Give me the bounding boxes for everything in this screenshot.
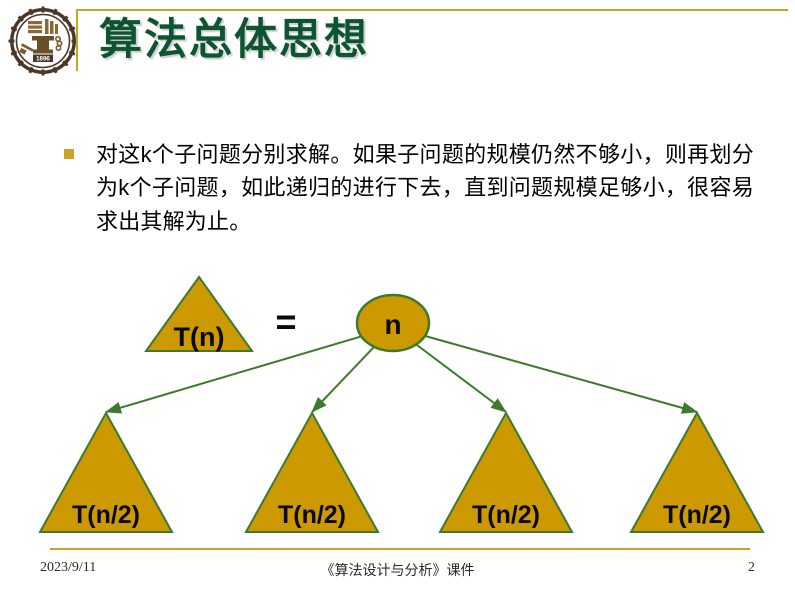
root-triangle: T(n) — [146, 277, 252, 352]
root-node-ellipse: n — [357, 295, 429, 351]
footer: 2023/9/11 《算法设计与分析》课件 2 — [0, 556, 795, 584]
header-vertical-divider — [76, 9, 78, 71]
child-triangle-2: T(n/2) — [246, 413, 378, 532]
child-triangle-3: T(n/2) — [440, 413, 572, 532]
recursion-tree-diagram: T(n) = n T(n/2) T(n/2) T(n/2) — [0, 255, 795, 555]
footer-course-title: 《算法设计与分析》课件 — [0, 560, 795, 580]
page-title: 算法总体思想 — [99, 18, 369, 63]
tree-edge-1 — [106, 327, 393, 412]
bullet-list-item: 对这k个子问题分别求解。如果子问题的规模仍然不够小，则再划分为k个子问题，如此递… — [64, 138, 754, 238]
footer-page-number: 2 — [748, 560, 755, 576]
child-triangle-1-label: T(n/2) — [72, 501, 140, 529]
header-top-divider — [76, 9, 788, 11]
root-node-label: n — [384, 309, 401, 340]
child-triangle-2-label: T(n/2) — [278, 501, 346, 529]
child-triangle-4-label: T(n/2) — [663, 501, 731, 529]
equals-operator: = — [275, 301, 296, 342]
bullet-item-text: 对这k个子问题分别求解。如果子问题的规模仍然不够小，则再划分为k个子问题，如此递… — [96, 138, 754, 238]
university-logo: 1896 — [8, 6, 78, 76]
tree-edge-4 — [393, 327, 697, 412]
child-triangle-4: T(n/2) — [631, 413, 763, 532]
logo-year-text: 1896 — [36, 56, 50, 63]
footer-divider — [50, 548, 750, 550]
slide: 1896 算法总体思想 对这k个子问题分别求解。如果子问题的规模仍然不够小，则再… — [0, 0, 795, 589]
child-triangle-1: T(n/2) — [40, 413, 172, 532]
bullet-square-icon — [64, 149, 74, 159]
root-triangle-label: T(n) — [174, 322, 225, 352]
child-triangle-3-label: T(n/2) — [472, 501, 540, 529]
